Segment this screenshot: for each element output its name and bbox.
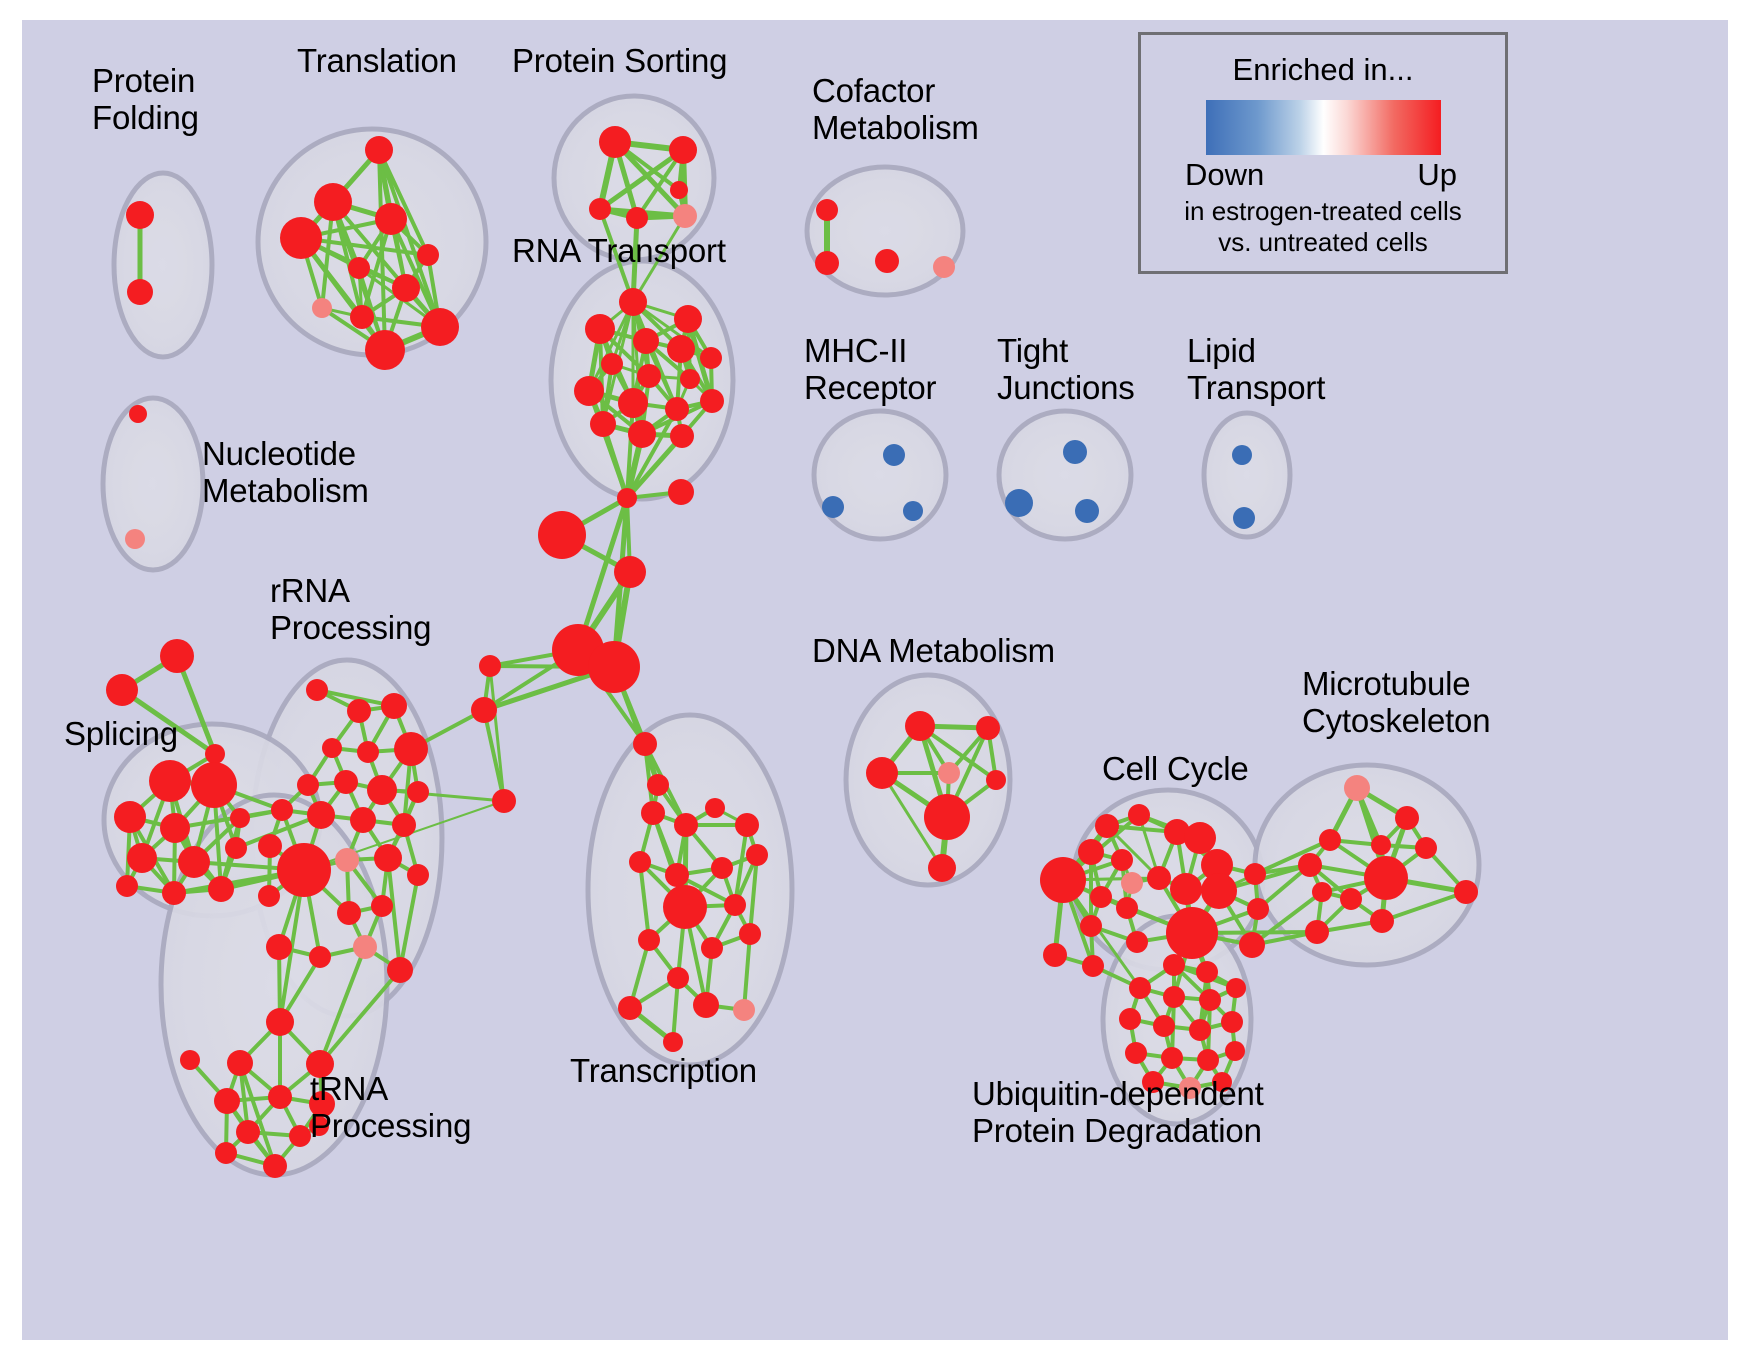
- network-node[interactable]: [1128, 804, 1150, 826]
- network-node[interactable]: [127, 843, 157, 873]
- network-node[interactable]: [986, 770, 1006, 790]
- network-node[interactable]: [335, 848, 359, 872]
- network-node[interactable]: [588, 641, 640, 693]
- network-node[interactable]: [1226, 978, 1246, 998]
- network-node[interactable]: [263, 1154, 287, 1178]
- network-node[interactable]: [629, 851, 651, 873]
- network-node[interactable]: [1005, 489, 1033, 517]
- network-node[interactable]: [1116, 897, 1138, 919]
- network-node[interactable]: [230, 808, 250, 828]
- cluster-label-dna-metabolism: DNA Metabolism: [812, 632, 1055, 669]
- network-node[interactable]: [903, 501, 923, 521]
- network-node[interactable]: [357, 741, 379, 763]
- network-node[interactable]: [1147, 866, 1171, 890]
- network-node[interactable]: [1166, 907, 1218, 959]
- network-node[interactable]: [1090, 886, 1112, 908]
- cluster-label-mhc-ii-receptor: MHC-II Receptor: [804, 332, 936, 406]
- network-node[interactable]: [407, 864, 429, 886]
- network-node[interactable]: [711, 857, 733, 879]
- network-node[interactable]: [314, 183, 352, 221]
- network-node[interactable]: [816, 199, 838, 221]
- network-node[interactable]: [1161, 1047, 1183, 1069]
- network-node[interactable]: [180, 1050, 200, 1070]
- network-node[interactable]: [1196, 961, 1218, 983]
- network-node[interactable]: [1153, 1015, 1175, 1037]
- network-node[interactable]: [701, 937, 723, 959]
- network-node[interactable]: [1197, 1049, 1219, 1071]
- network-node[interactable]: [1364, 856, 1408, 900]
- network-node[interactable]: [322, 738, 342, 758]
- network-node[interactable]: [1040, 857, 1086, 903]
- cluster-label-rna-transport: RNA Transport: [512, 232, 726, 269]
- network-node[interactable]: [277, 843, 331, 897]
- network-node[interactable]: [617, 488, 637, 508]
- network-node[interactable]: [1225, 1041, 1245, 1061]
- network-node[interactable]: [626, 207, 648, 229]
- network-node[interactable]: [268, 1085, 292, 1109]
- network-node[interactable]: [289, 1125, 311, 1147]
- network-node[interactable]: [116, 875, 138, 897]
- network-node[interactable]: [674, 305, 702, 333]
- network-node[interactable]: [1075, 499, 1099, 523]
- network-node[interactable]: [1043, 943, 1067, 967]
- cluster-label-rrna-processing: rRNA Processing: [270, 572, 431, 646]
- network-canvas: Protein FoldingTranslationProtein Sortin…: [22, 20, 1728, 1340]
- network-node[interactable]: [619, 288, 647, 316]
- network-node[interactable]: [348, 257, 370, 279]
- network-node[interactable]: [353, 935, 377, 959]
- network-node[interactable]: [1239, 932, 1265, 958]
- network-node[interactable]: [1119, 1008, 1141, 1030]
- network-node[interactable]: [668, 479, 694, 505]
- cluster-label-microtubule-cytoskeleton: Microtubule Cytoskeleton: [1302, 665, 1490, 739]
- cluster-label-trna-processing: tRNA Processing: [310, 1070, 471, 1144]
- network-node[interactable]: [1340, 888, 1362, 910]
- network-node[interactable]: [215, 1142, 237, 1164]
- network-node[interactable]: [663, 885, 707, 929]
- network-node[interactable]: [746, 844, 768, 866]
- figure-root: Protein FoldingTranslationProtein Sortin…: [0, 0, 1750, 1360]
- network-node[interactable]: [673, 204, 697, 228]
- network-node[interactable]: [297, 774, 319, 796]
- network-node[interactable]: [883, 444, 905, 466]
- network-node[interactable]: [129, 405, 147, 423]
- network-node[interactable]: [149, 760, 191, 802]
- network-node[interactable]: [1111, 849, 1133, 871]
- cluster-ellipse-protein-folding: [114, 173, 212, 357]
- network-node[interactable]: [1344, 775, 1370, 801]
- cluster-ellipse-tight-junctions: [999, 411, 1131, 539]
- network-node[interactable]: [106, 674, 138, 706]
- network-node[interactable]: [933, 256, 955, 278]
- network-node[interactable]: [905, 711, 935, 741]
- network-node[interactable]: [1163, 986, 1185, 1008]
- network-node[interactable]: [306, 679, 328, 701]
- network-node[interactable]: [601, 353, 623, 375]
- cluster-label-lipid-transport: Lipid Transport: [1187, 332, 1325, 406]
- network-node[interactable]: [205, 744, 225, 764]
- network-node[interactable]: [1095, 814, 1119, 838]
- legend-title: Enriched in...: [1141, 52, 1505, 88]
- network-node[interactable]: [822, 496, 844, 518]
- legend-caption-line-1: in estrogen-treated cells: [1141, 196, 1505, 226]
- network-node[interactable]: [236, 1120, 260, 1144]
- network-node[interactable]: [1129, 977, 1151, 999]
- network-node[interactable]: [670, 424, 694, 448]
- network-node[interactable]: [866, 757, 898, 789]
- network-node[interactable]: [667, 335, 695, 363]
- network-node[interactable]: [1125, 1042, 1147, 1064]
- network-node[interactable]: [407, 781, 429, 803]
- network-node[interactable]: [394, 732, 428, 766]
- network-node[interactable]: [739, 923, 761, 945]
- network-node[interactable]: [1221, 1011, 1243, 1033]
- network-node[interactable]: [1395, 806, 1419, 830]
- network-node[interactable]: [1415, 837, 1437, 859]
- network-node[interactable]: [1298, 853, 1322, 877]
- network-node[interactable]: [350, 305, 374, 329]
- network-node[interactable]: [815, 251, 839, 275]
- network-node[interactable]: [1233, 507, 1255, 529]
- network-node[interactable]: [365, 330, 405, 370]
- network-node[interactable]: [162, 881, 186, 905]
- legend-down-label: Down: [1185, 157, 1264, 193]
- network-node[interactable]: [590, 411, 616, 437]
- network-node[interactable]: [225, 837, 247, 859]
- network-node[interactable]: [258, 885, 280, 907]
- network-node[interactable]: [191, 762, 237, 808]
- network-node[interactable]: [1232, 445, 1252, 465]
- cluster-ellipse-mhc-ii-receptor: [814, 411, 946, 539]
- network-node[interactable]: [667, 967, 689, 989]
- network-node[interactable]: [1078, 839, 1104, 865]
- network-node[interactable]: [618, 996, 642, 1020]
- network-node[interactable]: [674, 813, 698, 837]
- network-node[interactable]: [208, 876, 234, 902]
- cluster-label-cofactor-metabolism: Cofactor Metabolism: [812, 72, 979, 146]
- network-node[interactable]: [1305, 920, 1329, 944]
- cluster-label-ubiquitin-degradation: Ubiquitin-dependent Protein Degradation: [972, 1075, 1264, 1149]
- network-node[interactable]: [665, 863, 689, 887]
- network-node[interactable]: [392, 813, 416, 837]
- legend-box: Enriched in... Down Up in estrogen-treat…: [1138, 32, 1508, 274]
- network-node[interactable]: [127, 279, 153, 305]
- network-node[interactable]: [700, 389, 724, 413]
- network-node[interactable]: [680, 369, 700, 389]
- network-node[interactable]: [735, 813, 759, 837]
- network-node[interactable]: [1184, 822, 1216, 854]
- cluster-label-cell-cycle: Cell Cycle: [1102, 750, 1249, 787]
- network-node[interactable]: [381, 693, 407, 719]
- network-node[interactable]: [178, 846, 210, 878]
- network-node[interactable]: [471, 697, 497, 723]
- network-node[interactable]: [1454, 880, 1478, 904]
- network-node[interactable]: [633, 328, 659, 354]
- network-node[interactable]: [371, 895, 393, 917]
- network-node[interactable]: [492, 789, 516, 813]
- network-node[interactable]: [647, 774, 669, 796]
- cluster-ellipse-nucleotide-metabolism: [103, 398, 203, 570]
- network-node[interactable]: [125, 529, 145, 549]
- cluster-label-splicing: Splicing: [64, 715, 178, 752]
- legend-endpoints: Down Up: [1183, 157, 1463, 195]
- network-node[interactable]: [337, 901, 361, 925]
- network-node[interactable]: [1312, 882, 1332, 902]
- network-node[interactable]: [387, 957, 413, 983]
- network-node[interactable]: [280, 217, 322, 259]
- network-node[interactable]: [266, 934, 292, 960]
- network-node[interactable]: [1244, 863, 1266, 885]
- network-node[interactable]: [365, 136, 393, 164]
- network-node[interactable]: [670, 181, 688, 199]
- network-node[interactable]: [271, 799, 293, 821]
- network-node[interactable]: [367, 775, 397, 805]
- network-node[interactable]: [1063, 440, 1087, 464]
- network-node[interactable]: [924, 794, 970, 840]
- network-node[interactable]: [214, 1088, 240, 1114]
- network-node[interactable]: [1080, 915, 1102, 937]
- cluster-label-transcription: Transcription: [570, 1052, 757, 1089]
- network-node[interactable]: [1199, 989, 1221, 1011]
- network-node[interactable]: [1126, 931, 1148, 953]
- network-node[interactable]: [633, 732, 657, 756]
- cluster-label-tight-junctions: Tight Junctions: [997, 332, 1135, 406]
- network-node[interactable]: [574, 376, 604, 406]
- edge: [484, 710, 504, 801]
- network-node[interactable]: [392, 274, 420, 302]
- network-node[interactable]: [614, 556, 646, 588]
- network-node[interactable]: [126, 201, 154, 229]
- network-node[interactable]: [227, 1050, 253, 1076]
- network-node[interactable]: [976, 716, 1000, 740]
- network-node[interactable]: [375, 203, 407, 235]
- network-node[interactable]: [638, 929, 660, 951]
- network-node[interactable]: [160, 813, 190, 843]
- cluster-label-translation: Translation: [297, 42, 457, 79]
- network-node[interactable]: [618, 388, 648, 418]
- network-node[interactable]: [114, 801, 146, 833]
- network-node[interactable]: [347, 699, 371, 723]
- network-node[interactable]: [1319, 829, 1341, 851]
- network-node[interactable]: [1370, 909, 1394, 933]
- network-node[interactable]: [875, 249, 899, 273]
- network-node[interactable]: [928, 854, 956, 882]
- network-node[interactable]: [700, 347, 722, 369]
- cluster-label-nucleotide-metabolism: Nucleotide Metabolism: [202, 435, 369, 509]
- network-node[interactable]: [421, 308, 459, 346]
- network-node[interactable]: [1201, 873, 1237, 909]
- legend-color-gradient-bar: [1206, 100, 1441, 155]
- network-node[interactable]: [160, 639, 194, 673]
- network-node[interactable]: [258, 834, 282, 858]
- network-node[interactable]: [693, 992, 719, 1018]
- cluster-label-protein-sorting: Protein Sorting: [512, 42, 727, 79]
- network-node[interactable]: [1082, 955, 1104, 977]
- network-node[interactable]: [599, 126, 631, 158]
- network-node[interactable]: [663, 1032, 683, 1052]
- network-node[interactable]: [724, 894, 746, 916]
- network-node[interactable]: [665, 397, 689, 421]
- network-node[interactable]: [733, 999, 755, 1021]
- network-node[interactable]: [637, 364, 661, 388]
- legend-caption-line-2: vs. untreated cells: [1141, 227, 1505, 257]
- network-node[interactable]: [1247, 898, 1269, 920]
- network-node[interactable]: [374, 844, 402, 872]
- network-node[interactable]: [589, 198, 611, 220]
- network-node[interactable]: [309, 946, 331, 968]
- network-node[interactable]: [334, 770, 358, 794]
- network-node[interactable]: [1170, 873, 1202, 905]
- cluster-label-protein-folding: Protein Folding: [92, 62, 199, 136]
- network-node[interactable]: [538, 511, 586, 559]
- network-node[interactable]: [1121, 872, 1143, 894]
- network-node[interactable]: [628, 420, 656, 448]
- network-node[interactable]: [312, 298, 332, 318]
- network-node[interactable]: [350, 807, 376, 833]
- network-node[interactable]: [705, 798, 725, 818]
- network-node[interactable]: [1189, 1019, 1211, 1041]
- network-node[interactable]: [1163, 954, 1185, 976]
- network-node[interactable]: [479, 655, 501, 677]
- legend-up-label: Up: [1417, 157, 1457, 193]
- network-node[interactable]: [669, 136, 697, 164]
- network-node[interactable]: [307, 801, 335, 829]
- network-node[interactable]: [417, 244, 439, 266]
- network-node[interactable]: [938, 762, 960, 784]
- network-node[interactable]: [641, 801, 665, 825]
- network-node[interactable]: [585, 314, 615, 344]
- network-node[interactable]: [1371, 835, 1391, 855]
- network-node[interactable]: [266, 1008, 294, 1036]
- edge: [490, 666, 504, 801]
